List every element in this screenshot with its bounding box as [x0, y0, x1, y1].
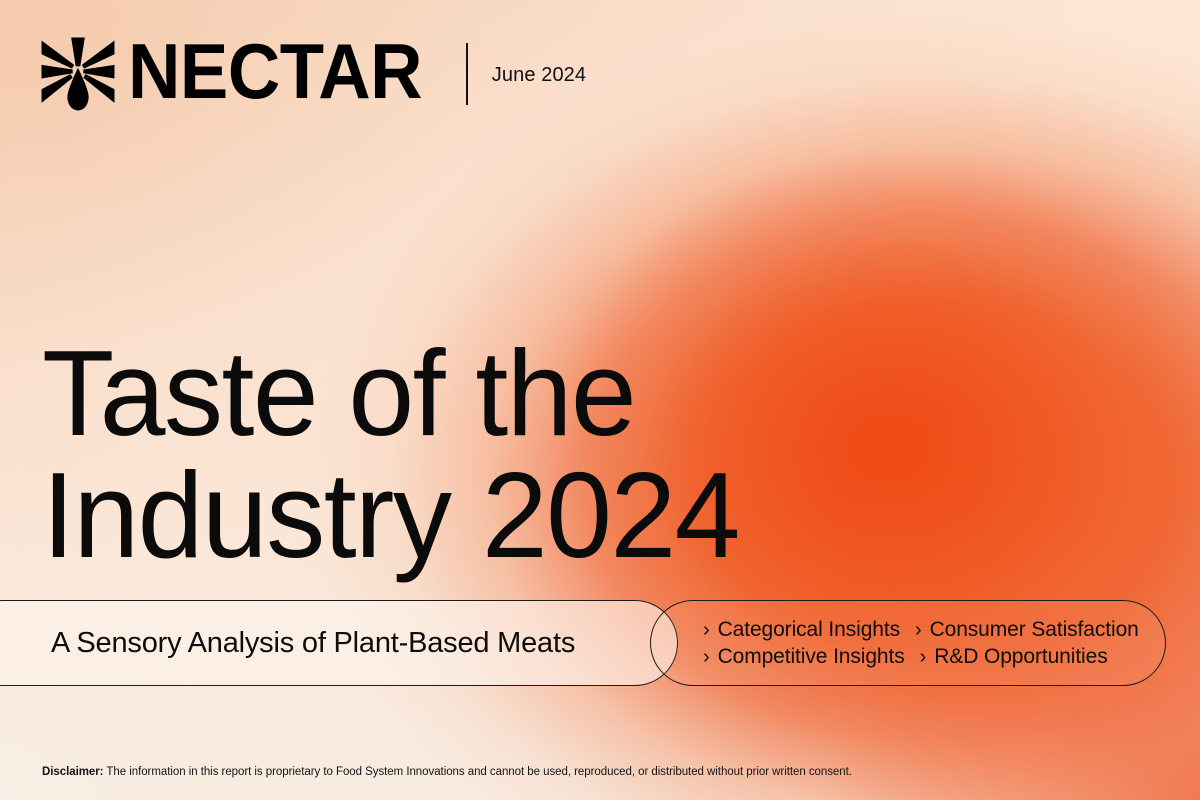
report-date: June 2024: [492, 64, 586, 87]
cover-pill-row: A Sensory Analysis of Plant-Based Meats …: [0, 600, 1200, 686]
chevron-right-icon: ›: [703, 647, 710, 667]
topics-row: › Categorical Insights › Consumer Satisf…: [703, 618, 1139, 642]
nectar-starburst-droplet-icon: [40, 36, 116, 112]
topic-label: Consumer Satisfaction: [930, 618, 1139, 642]
disclaimer: Disclaimer: The information in this repo…: [42, 765, 852, 780]
page-title: Taste of the Industry 2024: [42, 332, 942, 576]
chevron-right-icon: ›: [703, 620, 710, 640]
subtitle-label: A Sensory Analysis of Plant-Based Meats: [51, 627, 575, 660]
topics-list: › Categorical Insights › Consumer Satisf…: [703, 618, 1139, 669]
page-title-line-2: Industry 2024: [42, 454, 915, 576]
topics-pill: › Categorical Insights › Consumer Satisf…: [650, 600, 1166, 686]
subtitle-pill: A Sensory Analysis of Plant-Based Meats: [0, 600, 678, 686]
topic-categorical-insights[interactable]: › Categorical Insights: [703, 618, 900, 642]
topic-label: Categorical Insights: [718, 618, 900, 642]
brand-wordmark: NECTAR: [128, 40, 422, 104]
page-title-line-1: Taste of the: [42, 332, 915, 454]
topic-label: Competitive Insights: [718, 645, 905, 669]
topic-consumer-satisfaction[interactable]: › Consumer Satisfaction: [915, 618, 1139, 642]
disclaimer-text: The information in this report is propri…: [103, 766, 851, 778]
topic-competitive-insights[interactable]: › Competitive Insights: [703, 645, 905, 669]
topic-rd-opportunities[interactable]: › R&D Opportunities: [920, 645, 1108, 669]
header-divider: [466, 43, 468, 105]
chevron-right-icon: ›: [915, 620, 922, 640]
report-cover: NECTAR June 2024 Taste of the Industry 2…: [0, 0, 1200, 800]
topic-label: R&D Opportunities: [934, 645, 1107, 669]
cover-header: NECTAR June 2024: [40, 36, 586, 112]
topics-row: › Competitive Insights › R&D Opportuniti…: [703, 645, 1139, 669]
chevron-right-icon: ›: [920, 647, 927, 667]
disclaimer-label: Disclaimer:: [42, 766, 103, 778]
